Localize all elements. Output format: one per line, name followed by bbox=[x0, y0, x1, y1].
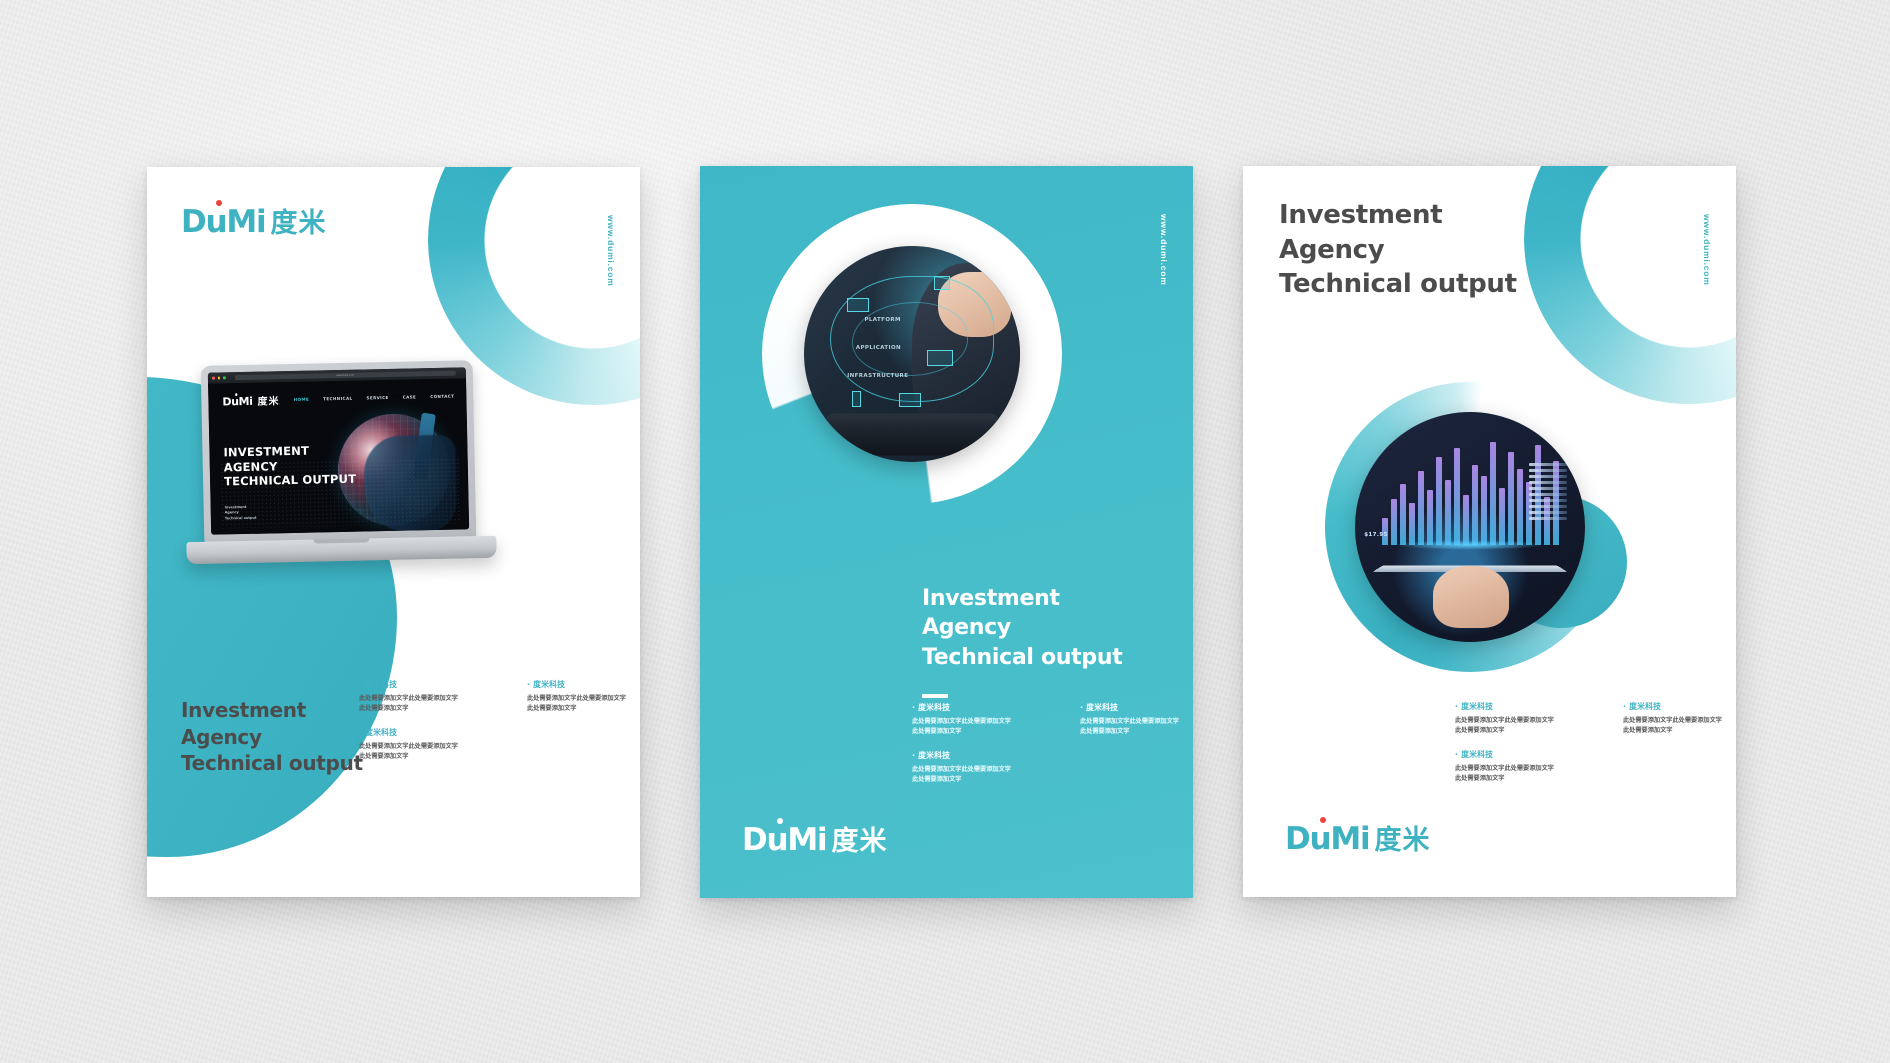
note-body-short: 此处需要添加文字 bbox=[359, 704, 479, 714]
note-body-short: 此处需要添加文字 bbox=[527, 704, 640, 714]
close-icon[interactable] bbox=[212, 377, 215, 380]
nav-item-contact[interactable]: CONTACT bbox=[430, 394, 454, 400]
notes-column-left: · 度米科技 此处需要添加文字此处需要添加文字 此处需要添加文字 · 度米科技 … bbox=[1455, 701, 1575, 797]
laptop-screen: www.dumi.com DuMi 度米 bbox=[208, 367, 469, 534]
photo-label-platform: PLATFORM bbox=[864, 317, 900, 323]
note-body-short: 此处需要添加文字 bbox=[1455, 726, 1575, 736]
site-logo-dot-icon bbox=[235, 393, 238, 396]
headline-line3: Technical output bbox=[1279, 267, 1517, 302]
scene-backdrop: www.dumi.com DuMi 度米 www.dumi.com bbox=[0, 0, 1890, 1063]
note-body-long: 此处需要添加文字此处需要添加文字 bbox=[912, 765, 1032, 775]
poster3-headline: Investment Agency Technical output bbox=[1279, 198, 1517, 302]
note-body-short: 此处需要添加文字 bbox=[359, 752, 479, 762]
note-heading: · 度米科技 bbox=[912, 702, 1032, 713]
logo-dot-icon bbox=[216, 200, 222, 206]
note-block: · 度米科技 此处需要添加文字此处需要添加文字 此处需要添加文字 bbox=[359, 679, 479, 714]
logo-latin: DuMi bbox=[181, 204, 265, 240]
photo-hand bbox=[1433, 566, 1509, 628]
note-body-short: 此处需要添加文字 bbox=[912, 775, 1032, 785]
note-heading: · 度米科技 bbox=[1455, 749, 1575, 760]
note-body-short: 此处需要添加文字 bbox=[1623, 726, 1736, 736]
site-logo-latin: DuMi bbox=[222, 395, 252, 409]
hologram-value-label: $17.95 bbox=[1364, 532, 1388, 538]
note-body-long: 此处需要添加文字此处需要添加文字 bbox=[359, 742, 479, 752]
site-hero-heading: INVESTMENT AGENCY TECHNICAL OUTPUT bbox=[223, 443, 356, 490]
nav-item-home[interactable]: HOME bbox=[294, 397, 309, 402]
note-heading: · 度米科技 bbox=[1080, 702, 1193, 713]
note-heading: · 度米科技 bbox=[1455, 701, 1575, 712]
photo-tablet bbox=[804, 413, 1020, 454]
photo-monitor-icon bbox=[899, 393, 921, 407]
headline-line1: Investment bbox=[1279, 198, 1517, 233]
notes-column-left: · 度米科技 此处需要添加文字此处需要添加文字 此处需要添加文字 · 度米科技 … bbox=[912, 702, 1032, 798]
note-body-short: 此处需要添加文字 bbox=[1455, 774, 1575, 784]
note-heading: · 度米科技 bbox=[359, 679, 479, 690]
note-block: · 度米科技 此处需要添加文字此处需要添加文字 此处需要添加文字 bbox=[527, 679, 640, 714]
site-hero-subtext: Investment Agency Technical output bbox=[225, 504, 257, 522]
brand-logo-p2: DuMi 度米 bbox=[742, 819, 887, 858]
poster2-notes: · 度米科技 此处需要添加文字此处需要添加文字 此处需要添加文字 · 度米科技 … bbox=[912, 702, 1193, 798]
logo-cjk: 度米 bbox=[831, 819, 887, 858]
photo-server-icon bbox=[847, 298, 869, 312]
site-navbar: DuMi 度米 HOME TECHNICAL SERVICE CASE CONT… bbox=[222, 389, 454, 409]
vertical-url-p1: www.dumi.com bbox=[606, 215, 616, 287]
site-logo-cjk: 度米 bbox=[257, 392, 279, 407]
minimize-icon[interactable] bbox=[217, 377, 220, 380]
vertical-url-p3: www.dumi.com bbox=[1702, 214, 1712, 286]
notes-column-right: · 度米科技 此处需要添加文字此处需要添加文字 此处需要添加文字 bbox=[1623, 701, 1736, 797]
photo-label-application: APPLICATION bbox=[856, 345, 901, 351]
logo-dot-icon bbox=[777, 818, 783, 824]
headline-line1: Investment bbox=[922, 584, 1122, 613]
note-body-long: 此处需要添加文字此处需要添加文字 bbox=[1623, 716, 1736, 726]
note-body-long: 此处需要添加文字此处需要添加文字 bbox=[527, 694, 640, 704]
note-heading: · 度米科技 bbox=[359, 727, 479, 738]
headline-line3: Technical output bbox=[922, 643, 1122, 672]
note-body-long: 此处需要添加文字此处需要添加文字 bbox=[1455, 716, 1575, 726]
note-body-long: 此处需要添加文字此处需要添加文字 bbox=[1080, 717, 1193, 727]
nav-item-service[interactable]: SERVICE bbox=[366, 395, 388, 400]
photo-phone-icon bbox=[852, 391, 861, 407]
headline-line3: Technical output bbox=[181, 750, 363, 777]
site-sub-line3: Technical output bbox=[225, 516, 257, 522]
notes-column-left: · 度米科技 此处需要添加文字此处需要添加文字 此处需要添加文字 · 度米科技 … bbox=[359, 679, 479, 775]
site-nav-links: HOME TECHNICAL SERVICE CASE CONTACT bbox=[294, 394, 455, 402]
note-body-long: 此处需要添加文字此处需要添加文字 bbox=[912, 717, 1032, 727]
logo-cjk: 度米 bbox=[270, 201, 326, 240]
photo-laptop-icon bbox=[927, 350, 953, 366]
note-block: · 度米科技 此处需要添加文字此处需要添加文字 此处需要添加文字 bbox=[912, 702, 1032, 737]
laptop-lid: www.dumi.com DuMi 度米 bbox=[201, 360, 477, 544]
note-body-short: 此处需要添加文字 bbox=[912, 727, 1032, 737]
hologram-readout bbox=[1529, 463, 1567, 523]
nav-item-technical[interactable]: TECHNICAL bbox=[323, 396, 352, 402]
site-logo[interactable]: DuMi 度米 bbox=[222, 392, 279, 408]
note-block: · 度米科技 此处需要添加文字此处需要添加文字 此处需要添加文字 bbox=[1080, 702, 1193, 737]
headline-rule bbox=[922, 694, 948, 698]
poster-1-cover: www.dumi.com DuMi 度米 www.dumi.com bbox=[147, 167, 640, 897]
headline-line1: Investment bbox=[181, 697, 363, 724]
note-heading: · 度米科技 bbox=[912, 750, 1032, 761]
note-block: · 度米科技 此处需要添加文字此处需要添加文字 此处需要添加文字 bbox=[1623, 701, 1736, 736]
maximize-icon[interactable] bbox=[223, 377, 226, 380]
photo-db-icon bbox=[934, 276, 950, 290]
headline-line2: Agency bbox=[922, 613, 1122, 642]
brand-logo-p3: DuMi 度米 bbox=[1285, 818, 1430, 857]
note-block: · 度米科技 此处需要添加文字此处需要添加文字 此处需要添加文字 bbox=[912, 750, 1032, 785]
logo-latin: DuMi bbox=[1285, 821, 1369, 857]
note-block: · 度米科技 此处需要添加文字此处需要添加文字 此处需要添加文字 bbox=[1455, 749, 1575, 784]
vertical-url-p2: www.dumi.com bbox=[1159, 214, 1169, 286]
note-heading: · 度米科技 bbox=[527, 679, 640, 690]
poster3-notes: · 度米科技 此处需要添加文字此处需要添加文字 此处需要添加文字 · 度米科技 … bbox=[1455, 701, 1736, 797]
poster1-headline: Investment Agency Technical output bbox=[181, 697, 363, 777]
note-block: · 度米科技 此处需要添加文字此处需要添加文字 此处需要添加文字 bbox=[359, 727, 479, 762]
note-body-long: 此处需要添加文字此处需要添加文字 bbox=[359, 694, 479, 704]
poster2-headline: Investment Agency Technical output bbox=[922, 584, 1122, 698]
poster-3-white: www.dumi.com Investment Agency Technical… bbox=[1243, 166, 1736, 897]
logo-latin: DuMi bbox=[742, 822, 826, 858]
photo-bar-chart-hologram: $17.95 bbox=[1355, 412, 1585, 642]
nav-item-case[interactable]: CASE bbox=[403, 394, 417, 399]
poster1-notes: · 度米科技 此处需要添加文字此处需要添加文字 此处需要添加文字 · 度米科技 … bbox=[359, 679, 640, 775]
notes-column-right: · 度米科技 此处需要添加文字此处需要添加文字 此处需要添加文字 bbox=[1080, 702, 1193, 798]
photo-label-infrastructure: INFRASTRUCTURE bbox=[847, 373, 908, 379]
note-block: · 度米科技 此处需要添加文字此处需要添加文字 此处需要添加文字 bbox=[1455, 701, 1575, 736]
note-body-long: 此处需要添加文字此处需要添加文字 bbox=[1455, 764, 1575, 774]
photo-cloud-network: PLATFORM APPLICATION INFRASTRUCTURE bbox=[804, 246, 1020, 462]
site-hero-line3: TECHNICAL OUTPUT bbox=[224, 472, 356, 489]
logo-cjk: 度米 bbox=[1374, 818, 1430, 857]
notes-column-right: · 度米科技 此处需要添加文字此处需要添加文字 此处需要添加文字 bbox=[527, 679, 640, 775]
hologram-glow bbox=[1396, 540, 1543, 550]
headline-line2: Agency bbox=[181, 724, 363, 751]
logo-dot-icon bbox=[1320, 817, 1326, 823]
headline-line2: Agency bbox=[1279, 233, 1517, 268]
note-heading: · 度米科技 bbox=[1623, 701, 1736, 712]
note-body-short: 此处需要添加文字 bbox=[1080, 727, 1193, 737]
laptop-mockup: www.dumi.com DuMi 度米 bbox=[183, 360, 498, 591]
brand-logo-p1: DuMi 度米 bbox=[181, 201, 326, 240]
website-preview: DuMi 度米 HOME TECHNICAL SERVICE CASE CONT… bbox=[208, 378, 469, 534]
poster-2-teal: PLATFORM APPLICATION INFRASTRUCTURE www.… bbox=[700, 166, 1193, 898]
